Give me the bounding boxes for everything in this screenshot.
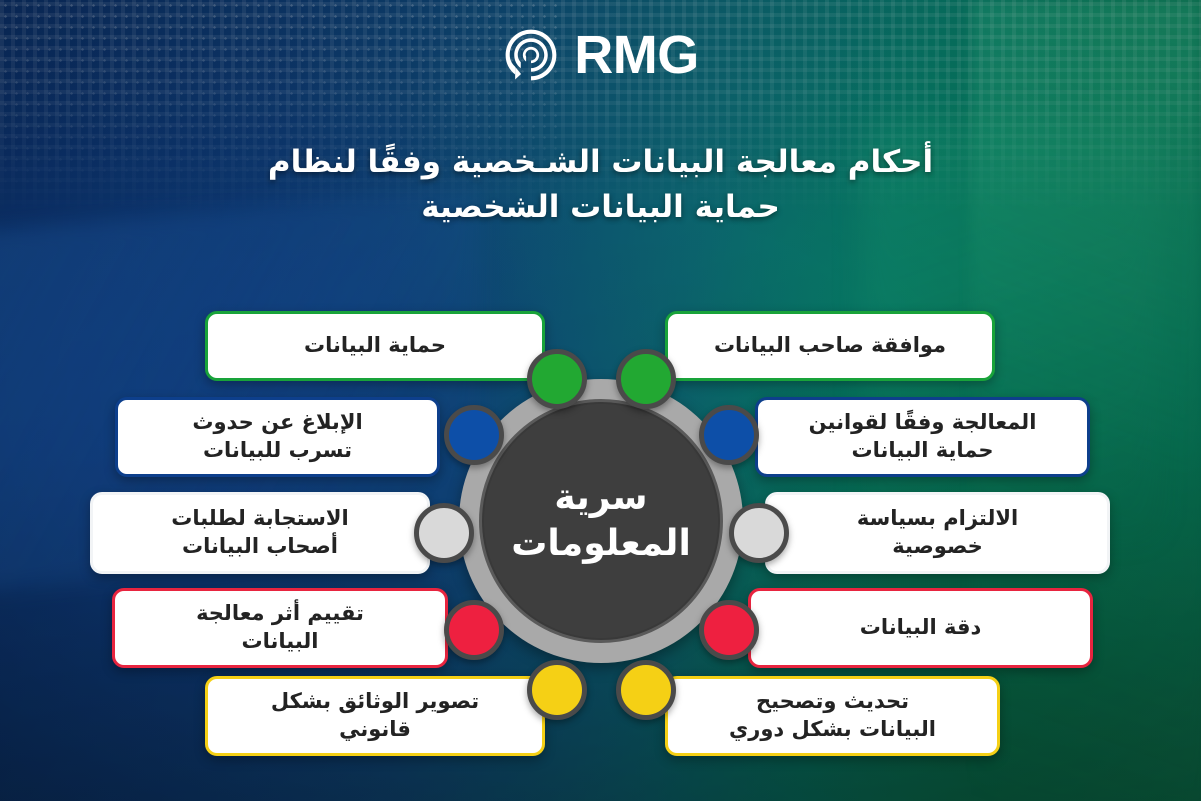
card-label-privacy-policy: الالتزام بسياسةخصوصية: [857, 505, 1018, 560]
node-dot-periodic-update[interactable]: [616, 660, 676, 720]
card-subject-requests[interactable]: الاستجابة لطلباتأصحاب البيانات: [90, 492, 430, 574]
page-title: أحكام معالجة البيانات الشـخصية وفقًا لنظ…: [160, 140, 1041, 230]
card-label-lawful-documentation: تصوير الوثائق بشكلقانوني: [271, 688, 479, 743]
card-label-line: موافقة صاحب البيانات: [714, 332, 946, 360]
card-label-line: الالتزام بسياسة: [857, 505, 1018, 533]
node-dot-data-accuracy[interactable]: [699, 600, 759, 660]
hub-core: سرية المعلومات: [479, 399, 723, 643]
card-label-line: الاستجابة لطلبات: [171, 505, 349, 533]
center-hub: سرية المعلومات: [459, 379, 743, 663]
card-label-owner-consent: موافقة صاحب البيانات: [714, 332, 946, 360]
card-label-line: تحديث وتصحيح: [729, 688, 936, 716]
card-privacy-policy[interactable]: الالتزام بسياسةخصوصية: [765, 492, 1110, 574]
card-data-protection[interactable]: حماية البيانات: [205, 311, 545, 381]
card-label-subject-requests: الاستجابة لطلباتأصحاب البيانات: [171, 505, 349, 560]
card-label-periodic-update: تحديث وتصحيحالبيانات بشكل دوري: [729, 688, 936, 743]
rmg-spiral-icon: [502, 26, 560, 84]
card-label-line: البيانات: [196, 628, 364, 656]
page-title-line-2: حماية البيانات الشخصية: [160, 185, 1041, 230]
card-label-data-protection: حماية البيانات: [304, 332, 446, 360]
card-label-line: قانوني: [271, 716, 479, 744]
node-dot-subject-requests[interactable]: [414, 503, 474, 563]
node-dot-breach-notification[interactable]: [444, 405, 504, 465]
brand-header: RMG: [0, 26, 1201, 84]
card-label-breach-notification: الإبلاغ عن حدوثتسرب للبيانات: [192, 409, 362, 464]
page-title-line-1: أحكام معالجة البيانات الشـخصية وفقًا لنظ…: [160, 140, 1041, 185]
card-breach-notification[interactable]: الإبلاغ عن حدوثتسرب للبيانات: [115, 397, 440, 477]
card-label-line: حماية البيانات: [809, 437, 1037, 465]
card-periodic-update[interactable]: تحديث وتصحيحالبيانات بشكل دوري: [665, 676, 1000, 756]
node-dot-lawful-documentation[interactable]: [527, 660, 587, 720]
card-owner-consent[interactable]: موافقة صاحب البيانات: [665, 311, 995, 381]
card-label-line: المعالجة وفقًا لقوانين: [809, 409, 1037, 437]
card-label-line: الإبلاغ عن حدوث: [192, 409, 362, 437]
card-data-accuracy[interactable]: دقة البيانات: [748, 588, 1093, 668]
card-impact-assessment[interactable]: تقييم أثر معالجةالبيانات: [112, 588, 448, 668]
card-label-line: دقة البيانات: [860, 614, 982, 642]
card-label-line: تقييم أثر معالجة: [196, 600, 364, 628]
card-label-data-accuracy: دقة البيانات: [860, 614, 982, 642]
card-label-lawful-processing: المعالجة وفقًا لقوانينحماية البيانات: [809, 409, 1037, 464]
node-dot-data-protection[interactable]: [527, 349, 587, 409]
node-dot-owner-consent[interactable]: [616, 349, 676, 409]
node-dot-privacy-policy[interactable]: [729, 503, 789, 563]
card-lawful-processing[interactable]: المعالجة وفقًا لقوانينحماية البيانات: [755, 397, 1090, 477]
card-label-line: أصحاب البيانات: [171, 533, 349, 561]
infographic-canvas: RMG أحكام معالجة البيانات الشـخصية وفقًا…: [0, 0, 1201, 801]
hub-label: سرية المعلومات: [482, 475, 720, 567]
card-lawful-documentation[interactable]: تصوير الوثائق بشكلقانوني: [205, 676, 545, 756]
card-label-line: خصوصية: [857, 533, 1018, 561]
card-label-line: حماية البيانات: [304, 332, 446, 360]
brand-wordmark: RMG: [574, 28, 698, 82]
node-dot-lawful-processing[interactable]: [699, 405, 759, 465]
node-dot-impact-assessment[interactable]: [444, 600, 504, 660]
card-label-line: تصوير الوثائق بشكل: [271, 688, 479, 716]
card-label-line: البيانات بشكل دوري: [729, 716, 936, 744]
card-label-impact-assessment: تقييم أثر معالجةالبيانات: [196, 600, 364, 655]
card-label-line: تسرب للبيانات: [192, 437, 362, 465]
